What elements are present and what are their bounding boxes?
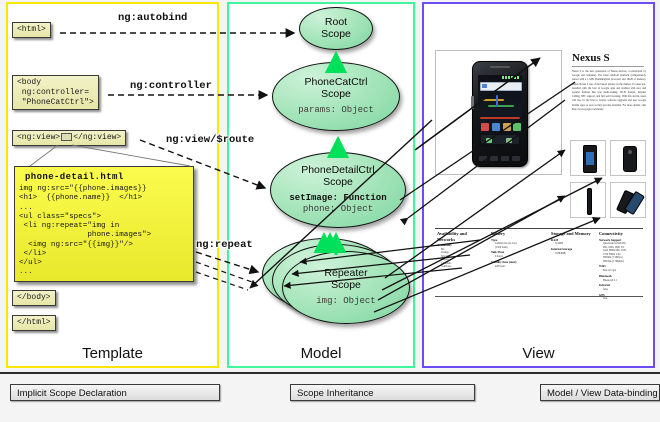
phone-search-button-icon [501,156,509,161]
phone-app-icon-4 [513,123,521,131]
spec-value-storage-ram: 512MB [555,242,599,246]
phone-back-button-icon [479,156,487,161]
root-scope: Root Scope [299,7,373,50]
root-scope-title-line2: Scope [321,29,351,41]
spec-header-battery: Battery [491,231,543,237]
phone-volume-button-icon [471,96,474,109]
spec-value-storage-internal: 16384MB [555,252,599,256]
code-block-body-open: <body ng:controller= "PhoneCatCtrl"> [12,75,99,110]
phonedetailctrl-scope-prop-setimage: setImage: Function [289,193,386,204]
spec-value-infrared: false [603,288,643,292]
ngview-open-tag: <ng:view> [17,133,60,142]
thumbnail-phone-front-home[interactable] [570,140,606,176]
specs-top-rule [435,228,643,229]
legend-item-model-view-data-binding: Model / View Data-binding [540,384,660,401]
phone-app-icon-2 [492,123,500,131]
phone-wire-3 [496,95,498,107]
callout-title: phone-detail.html [25,172,189,182]
legend-item-scope-inheritance: Scope Inheritance [290,384,475,401]
phone-search-widget-icon [480,82,522,91]
spec-value-wifi: 802.11 b/g/n [603,269,643,273]
view-page-paragraph: Nexus S is the next generation of Nexus … [572,70,646,112]
ngview-close-tag: </ng:view> [73,133,121,142]
phonedetailctrl-scope-title-line2: Scope [323,177,353,189]
phonedetailctrl-scope-prop-phone: phone: Object [303,204,373,215]
code-block-body-close: </body> [12,290,56,306]
template-callout-phone-detail: phone-detail.html img ng:src="{{phone.im… [14,166,194,282]
label-ng-autobind: ng:autobind [118,12,187,24]
legend-bar: Implicit Scope Declaration Scope Inherit… [0,372,660,422]
phone-device-illustration [472,61,528,167]
phonecatctrl-scope-title-line2: Scope [321,89,351,101]
diagram-canvas: Template Model View <html> <body ng:cont… [0,0,660,420]
code-block-html-open: <html> [12,22,51,38]
legend-item-implicit-scope-declaration: Implicit Scope Declaration [10,384,220,401]
phone-dock-icon-apps [506,138,512,143]
spec-column-connectivity: Connectivity Network Support Quad-band G… [599,231,643,301]
spec-value-battery-standby: 428 hours [495,265,543,269]
repeater-scope: Repeater Scope img: Object [282,251,410,324]
spec-value-battery-type-1: (1500 mAh) [495,246,543,250]
spec-header-availability: Availability and Networks [437,231,481,242]
phone-speaker-icon [490,66,510,68]
spec-value-battery-talktime: 6 hours [495,255,543,259]
repeater-scope-title-line2: Scope [331,280,361,292]
panel-template-label: Template [8,345,217,362]
thumbnail-phone-back[interactable] [610,140,646,176]
phone-app-icon-3 [503,123,511,131]
root-scope-title-line1: Root [325,17,347,29]
phone-screen [478,75,522,147]
view-rendered-page: Nexus S Nexus S is the next generation o… [432,12,646,346]
phone-button-row [479,156,521,163]
spec-column-storage: Storage and Memory RAM 512MB Internal St… [551,231,599,255]
label-ng-repeat: ng:repeat [196,239,253,251]
repeater-scope-prop-img: img: Object [316,296,375,307]
repeater-scope-title-line1: Repeater [324,268,367,280]
spec-header-storage: Storage and Memory [551,231,599,237]
label-ng-view-route: ng:view/$route [166,134,254,146]
view-page-heading: Nexus S [572,52,610,64]
thumbnail-phone-side-edge[interactable] [570,182,606,218]
phonedetailctrl-scope-title-line1: PhoneDetailCtrl [301,165,375,177]
phone-dock-icon-call [486,138,492,143]
thumb-icon-0 [583,145,597,173]
phone-statusbar-icon [502,76,520,79]
phone-wire-4 [480,117,520,119]
panel-view-label: View [424,345,653,362]
phone-wire-2 [488,105,514,107]
spec-value-gps: true [603,297,643,301]
view-heading-rule [572,66,644,67]
phone-wire-1 [482,99,504,101]
thumb-icon-1 [623,146,637,172]
phonecatctrl-scope-prop-params: params: Object [298,105,374,116]
callout-code: img ng:src="{{phone.images}} <h1> {{phon… [19,185,189,278]
view-specs-table: Availability and Networks Availability M… [435,228,643,298]
panel-model-label: Model [229,345,413,362]
spec-value-bluetooth: Bluetooth 2.1 [603,279,643,283]
phonecatctrl-scope: PhoneCatCtrl Scope params: Object [272,62,400,131]
phone-home-button-icon [512,156,520,161]
phonecatctrl-scope-title-line1: PhoneCatCtrl [304,77,367,89]
phone-app-icon-1 [481,123,489,131]
phone-hero-image [435,50,562,175]
spec-value-network-5: HSUPA (5.76Mbps) [603,260,643,264]
label-ng-controller: ng:controller [130,80,212,92]
phonedetailctrl-scope: PhoneDetailCtrl Scope setImage: Function… [270,152,406,228]
ngview-slot-icon [61,133,72,141]
phone-menu-button-icon [490,156,498,161]
spec-column-availability: Availability and Networks Availability M… [437,231,481,269]
spec-column-battery: Battery Type Lithium Ion (Li-Ion) (1500 … [491,231,543,268]
code-block-html-close: </html> [12,315,56,331]
thumb-icon-2 [587,188,592,215]
spec-header-connectivity: Connectivity [599,231,643,237]
spec-value-availability-6: Vodafone [441,265,481,269]
code-block-ngview: <ng:view></ng:view> [12,130,126,146]
thumbnail-phone-angled-pair[interactable] [610,182,646,218]
view-thumbnail-grid [570,140,648,220]
